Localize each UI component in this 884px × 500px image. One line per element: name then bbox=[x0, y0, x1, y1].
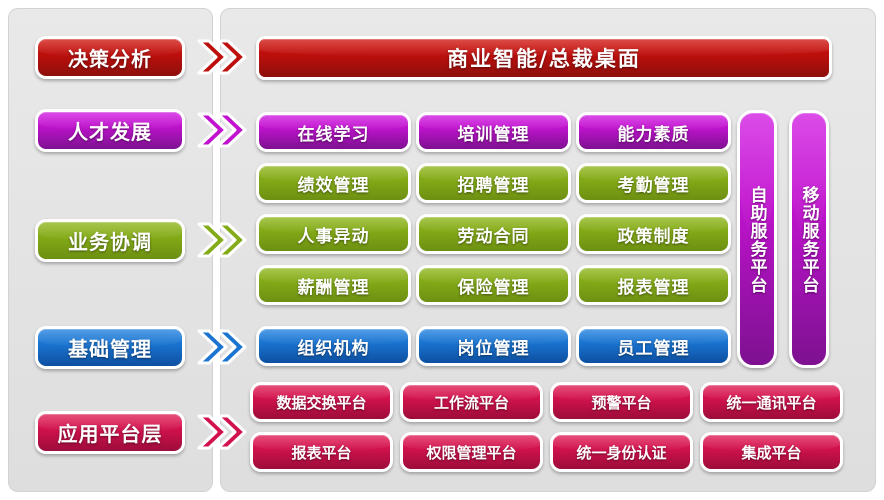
stage-label-platform-text: 应用平台层 bbox=[58, 418, 163, 447]
module-labor-contract[interactable]: 劳动合同 bbox=[416, 214, 571, 254]
platform-label: 统一身份认证 bbox=[576, 442, 666, 463]
module-label: 保险管理 bbox=[458, 273, 530, 298]
stage-label-business-text: 业务协调 bbox=[68, 226, 152, 255]
platform-label: 权限管理平台 bbox=[426, 442, 516, 463]
module-label: 考勤管理 bbox=[618, 171, 690, 196]
module-label: 报表管理 bbox=[618, 273, 690, 298]
module-policy-system[interactable]: 政策制度 bbox=[576, 214, 731, 254]
module-training-management[interactable]: 培训管理 bbox=[416, 112, 571, 152]
stage-label-business[interactable]: 业务协调 bbox=[35, 219, 185, 262]
module-label: 组织机构 bbox=[298, 334, 370, 359]
double-chevron-icon-decision bbox=[196, 37, 248, 77]
module-label: 培训管理 bbox=[458, 120, 530, 145]
module-label: 政策制度 bbox=[618, 222, 690, 247]
bi-banner-text: 商业智能/总裁桌面 bbox=[447, 43, 641, 73]
double-chevron-icon-business bbox=[196, 220, 248, 260]
platform-label: 统一通讯平台 bbox=[726, 392, 816, 413]
module-competency[interactable]: 能力素质 bbox=[576, 112, 731, 152]
module-compensation-management[interactable]: 薪酬管理 bbox=[256, 265, 411, 305]
module-performance-management[interactable]: 绩效管理 bbox=[256, 163, 411, 203]
module-online-learning[interactable]: 在线学习 bbox=[256, 112, 411, 152]
stage-label-decision-text: 决策分析 bbox=[68, 43, 152, 72]
platform-unified-identity[interactable]: 统一身份认证 bbox=[550, 432, 693, 472]
platform-label: 集成平台 bbox=[741, 442, 801, 463]
stage-label-talent[interactable]: 人才发展 bbox=[35, 109, 185, 152]
platform-unified-communication[interactable]: 统一通讯平台 bbox=[700, 382, 843, 422]
module-label: 人事异动 bbox=[298, 222, 370, 247]
stage-label-platform[interactable]: 应用平台层 bbox=[35, 411, 185, 454]
platform-data-exchange[interactable]: 数据交换平台 bbox=[250, 382, 393, 422]
platform-label: 预警平台 bbox=[591, 392, 651, 413]
module-report-management[interactable]: 报表管理 bbox=[576, 265, 731, 305]
bi-banner[interactable]: 商业智能/总裁桌面 bbox=[256, 36, 832, 80]
vertical-mobile-service-label: 移动服务平台 bbox=[797, 186, 822, 294]
diagram-canvas: 决策分析 人才发展 业务协调 基础管理 应用平台层 商业智能/总裁桌面 在线学习… bbox=[0, 0, 884, 500]
platform-label: 工作流平台 bbox=[434, 392, 509, 413]
stage-label-decision[interactable]: 决策分析 bbox=[35, 36, 185, 79]
module-label: 招聘管理 bbox=[458, 171, 530, 196]
module-attendance-management[interactable]: 考勤管理 bbox=[576, 163, 731, 203]
module-organization-structure[interactable]: 组织机构 bbox=[256, 326, 411, 366]
stage-label-basic-text: 基础管理 bbox=[68, 333, 152, 362]
module-label: 在线学习 bbox=[298, 120, 370, 145]
platform-workflow[interactable]: 工作流平台 bbox=[400, 382, 543, 422]
module-label: 薪酬管理 bbox=[298, 273, 370, 298]
platform-label: 数据交换平台 bbox=[276, 392, 366, 413]
vertical-self-service-platform[interactable]: 自助服务平台 bbox=[737, 110, 777, 368]
module-label: 能力素质 bbox=[618, 120, 690, 145]
double-chevron-icon-basic bbox=[196, 327, 248, 367]
stage-label-basic[interactable]: 基础管理 bbox=[35, 326, 185, 369]
platform-permission-management[interactable]: 权限管理平台 bbox=[400, 432, 543, 472]
platform-label: 报表平台 bbox=[291, 442, 351, 463]
module-insurance-management[interactable]: 保险管理 bbox=[416, 265, 571, 305]
stage-label-talent-text: 人才发展 bbox=[68, 116, 152, 145]
module-label: 劳动合同 bbox=[458, 222, 530, 247]
module-employee-management[interactable]: 员工管理 bbox=[576, 326, 731, 366]
module-label: 岗位管理 bbox=[458, 334, 530, 359]
platform-report[interactable]: 报表平台 bbox=[250, 432, 393, 472]
module-recruitment-management[interactable]: 招聘管理 bbox=[416, 163, 571, 203]
double-chevron-icon-talent bbox=[196, 110, 248, 150]
module-position-management[interactable]: 岗位管理 bbox=[416, 326, 571, 366]
platform-alert[interactable]: 预警平台 bbox=[550, 382, 693, 422]
module-personnel-changes[interactable]: 人事异动 bbox=[256, 214, 411, 254]
vertical-self-service-label: 自助服务平台 bbox=[745, 186, 770, 294]
double-chevron-icon-platform bbox=[196, 412, 248, 452]
platform-integration[interactable]: 集成平台 bbox=[700, 432, 843, 472]
vertical-mobile-service-platform[interactable]: 移动服务平台 bbox=[789, 110, 829, 368]
module-label: 员工管理 bbox=[618, 334, 690, 359]
module-label: 绩效管理 bbox=[298, 171, 370, 196]
